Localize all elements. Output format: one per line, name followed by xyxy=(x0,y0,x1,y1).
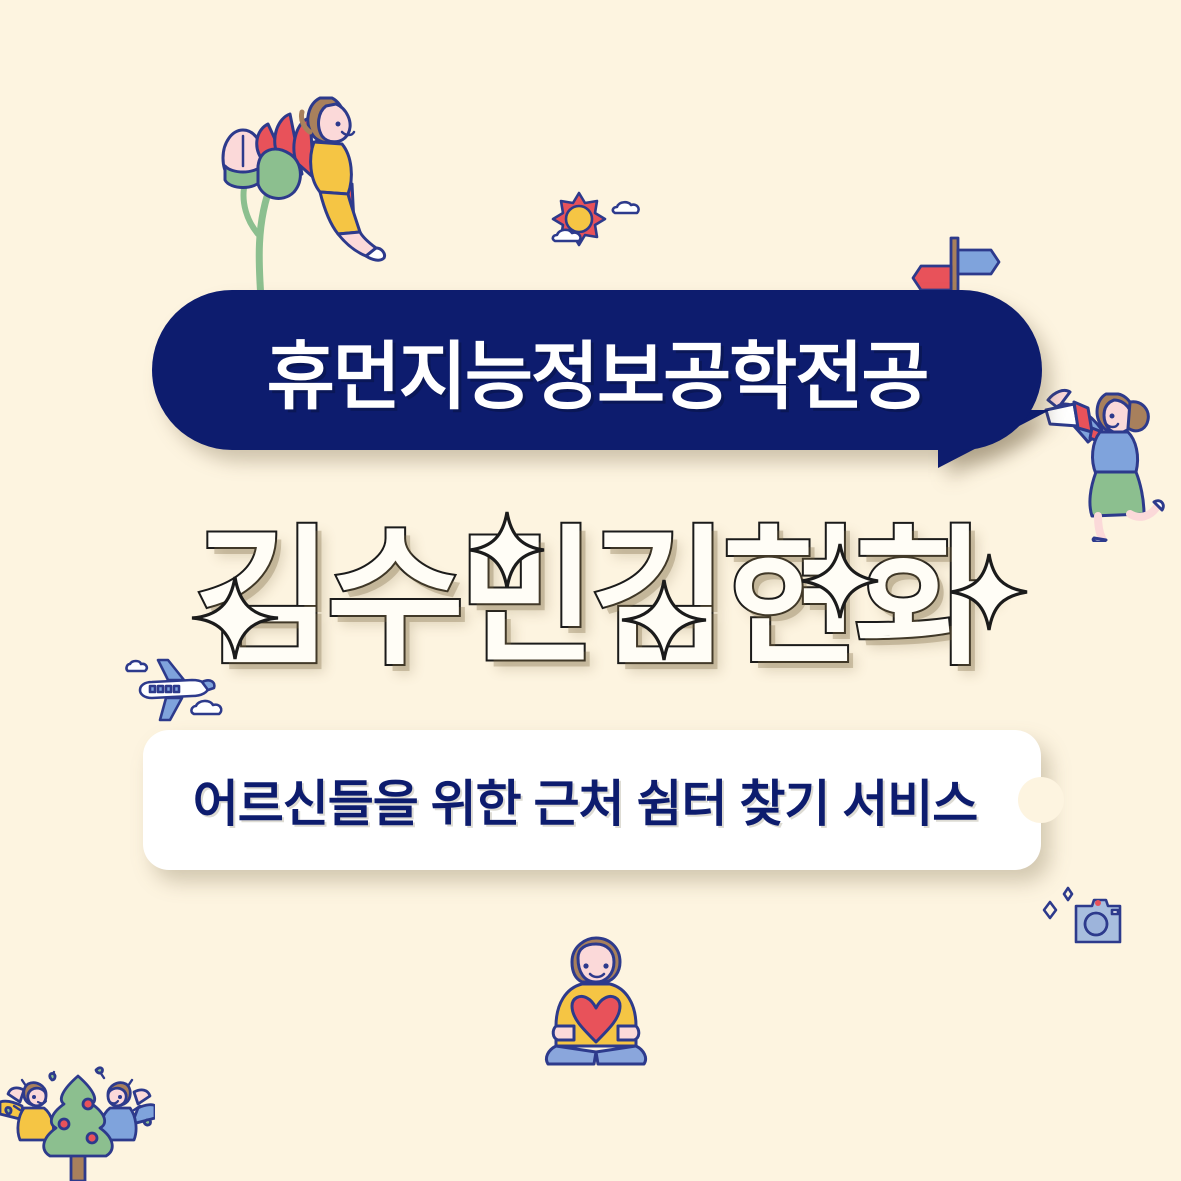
service-caption-card: 어르신들을 위한 근처 쉼터 찾기 서비스 xyxy=(143,730,1041,870)
children-behind-tree-icon xyxy=(0,1062,155,1181)
department-banner: 휴먼지능정보공학전공 xyxy=(152,290,1060,490)
page-title: 김수민김현화 xyxy=(194,477,986,694)
woman-sitting-on-flower-icon xyxy=(212,62,392,322)
caption-notch xyxy=(1018,777,1064,823)
title-block: 김수민김현화 xyxy=(0,500,1181,670)
banner-body: 휴먼지능정보공학전공 xyxy=(152,290,1042,450)
poster-canvas: 휴먼지능정보공학전공 김수민김현화 어르신들을 위한 근처 쉼터 찾기 서비스 xyxy=(0,0,1181,1181)
sun-with-clouds-icon xyxy=(545,185,655,255)
service-description: 어르신들을 위한 근처 쉼터 찾기 서비스 xyxy=(193,764,977,836)
person-holding-heart-icon xyxy=(534,934,654,1069)
department-name: 휴먼지능정보공학전공 xyxy=(267,317,928,424)
camera-with-sparkles-icon xyxy=(1036,886,1126,956)
